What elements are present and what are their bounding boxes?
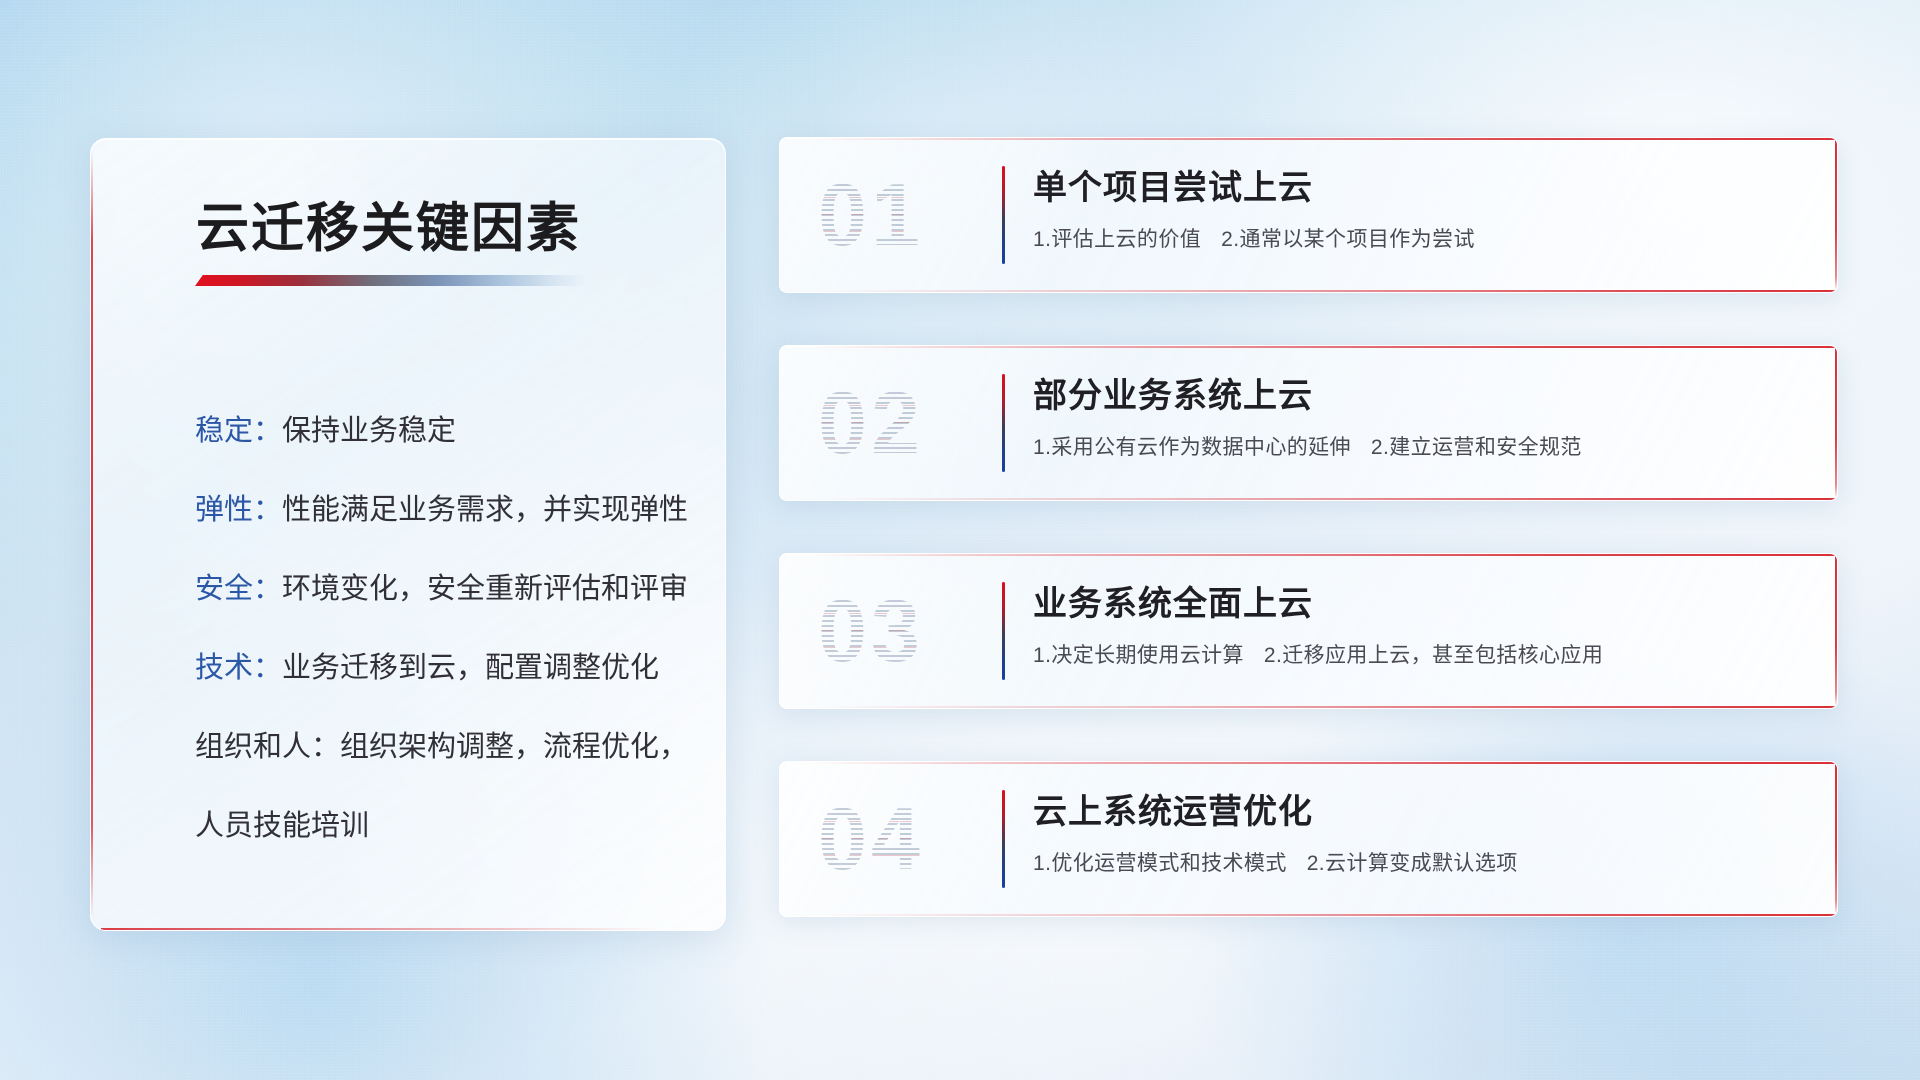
list-item-value: 环境变化，安全重新评估和评审: [282, 573, 688, 605]
card-body: 部分业务系统上云 1.采用公有云作为数据中心的延伸2.建立运营和安全规范: [1033, 376, 1813, 461]
card-top-accent: [810, 554, 1837, 556]
panel-bottom-accent-bar: [101, 928, 711, 930]
card-title: 业务系统全面上云: [1033, 584, 1813, 625]
stage-card-01[interactable]: 01 01 单个项目尝试上云 1.评估上云的价值2.通常以某个项目作为尝试: [779, 137, 1838, 293]
card-subtitle-part-2: 2.通常以某个项目作为尝试: [1221, 228, 1475, 251]
stage-card-04[interactable]: 04 04 云上系统运营优化 1.优化运营模式和技术模式2.云计算变成默认选项: [779, 761, 1838, 917]
card-divider-bar: [1002, 582, 1005, 680]
list-item: 安全：环境变化，安全重新评估和评审: [195, 565, 691, 607]
card-divider-bar: [1002, 166, 1005, 264]
stage-number: 01: [818, 164, 924, 266]
key-factors-list: 稳定：保持业务稳定 弹性：性能满足业务需求，并实现弹性 安全：环境变化，安全重新…: [195, 407, 691, 844]
card-subtitle: 1.决定长期使用云计算2.迁移应用上云，甚至包括核心应用: [1033, 639, 1813, 669]
stage-number: 02: [818, 372, 924, 474]
card-top-accent: [810, 762, 1837, 764]
card-subtitle-part-2: 2.建立运营和安全规范: [1371, 436, 1582, 459]
card-subtitle-part-1: 1.决定长期使用云计算: [1033, 644, 1244, 667]
card-subtitle-part-1: 1.优化运营模式和技术模式: [1033, 852, 1287, 875]
list-item-key: 弹性：: [195, 494, 282, 526]
card-title: 云上系统运营优化: [1033, 792, 1813, 833]
list-item-value: 组织架构调整，流程优化，: [340, 731, 688, 763]
key-factors-panel: 云迁移关键因素 稳定：保持业务稳定 弹性：性能满足业务需求，并实现弹性 安全：环…: [90, 138, 726, 931]
card-bottom-accent: [820, 914, 1837, 916]
title-underline-gradient: [195, 275, 587, 286]
card-top-accent: [810, 138, 1837, 140]
card-subtitle-part-2: 2.迁移应用上云，甚至包括核心应用: [1264, 644, 1603, 667]
card-subtitle: 1.采用公有云作为数据中心的延伸2.建立运营和安全规范: [1033, 431, 1813, 461]
list-item: 组织和人：组织架构调整，流程优化， 人员技能培训: [195, 723, 691, 844]
card-subtitle-part-2: 2.云计算变成默认选项: [1307, 852, 1518, 875]
list-item-key: 技术：: [195, 652, 282, 684]
page-title: 云迁移关键因素: [196, 186, 581, 262]
card-top-accent: [810, 346, 1837, 348]
stage-card-02[interactable]: 02 02 部分业务系统上云 1.采用公有云作为数据中心的延伸2.建立运营和安全…: [779, 345, 1838, 501]
list-item: 技术：业务迁移到云，配置调整优化: [195, 644, 691, 686]
card-bottom-accent: [820, 290, 1837, 292]
card-right-accent: [1835, 346, 1837, 500]
card-subtitle: 1.优化运营模式和技术模式2.云计算变成默认选项: [1033, 847, 1813, 877]
card-bottom-accent: [820, 706, 1837, 708]
card-right-accent: [1835, 554, 1837, 708]
card-subtitle-part-1: 1.采用公有云作为数据中心的延伸: [1033, 436, 1351, 459]
card-subtitle-part-1: 1.评估上云的价值: [1033, 228, 1201, 251]
stage-card-03[interactable]: 03 03 业务系统全面上云 1.决定长期使用云计算2.迁移应用上云，甚至包括核…: [779, 553, 1838, 709]
card-right-accent: [1835, 762, 1837, 916]
migration-stage-cards: 01 01 单个项目尝试上云 1.评估上云的价值2.通常以某个项目作为尝试 02…: [779, 137, 1838, 917]
card-bottom-accent: [820, 498, 1837, 500]
stage-number: 03: [818, 580, 924, 682]
card-body: 云上系统运营优化 1.优化运营模式和技术模式2.云计算变成默认选项: [1033, 792, 1813, 877]
card-title: 部分业务系统上云: [1033, 376, 1813, 417]
card-title: 单个项目尝试上云: [1033, 168, 1813, 209]
list-item-key: 安全：: [195, 573, 282, 605]
card-divider-bar: [1002, 790, 1005, 888]
card-divider-bar: [1002, 374, 1005, 472]
list-item-value: 保持业务稳定: [282, 415, 456, 447]
panel-left-accent-bar: [91, 151, 93, 918]
card-subtitle: 1.评估上云的价值2.通常以某个项目作为尝试: [1033, 223, 1813, 253]
slide-stage: 云迁移关键因素 稳定：保持业务稳定 弹性：性能满足业务需求，并实现弹性 安全：环…: [0, 0, 1920, 1080]
card-body: 单个项目尝试上云 1.评估上云的价值2.通常以某个项目作为尝试: [1033, 168, 1813, 253]
card-right-accent: [1835, 138, 1837, 292]
list-item: 弹性：性能满足业务需求，并实现弹性: [195, 486, 691, 528]
list-item-continuation: 人员技能培训: [195, 802, 691, 844]
list-item-value: 业务迁移到云，配置调整优化: [282, 652, 659, 684]
list-item: 稳定：保持业务稳定: [195, 407, 691, 449]
card-body: 业务系统全面上云 1.决定长期使用云计算2.迁移应用上云，甚至包括核心应用: [1033, 584, 1813, 669]
list-item-key: 稳定：: [195, 415, 282, 447]
list-item-value: 性能满足业务需求，并实现弹性: [282, 494, 688, 526]
stage-number: 04: [818, 788, 924, 890]
list-item-key: 组织和人：: [195, 731, 340, 763]
